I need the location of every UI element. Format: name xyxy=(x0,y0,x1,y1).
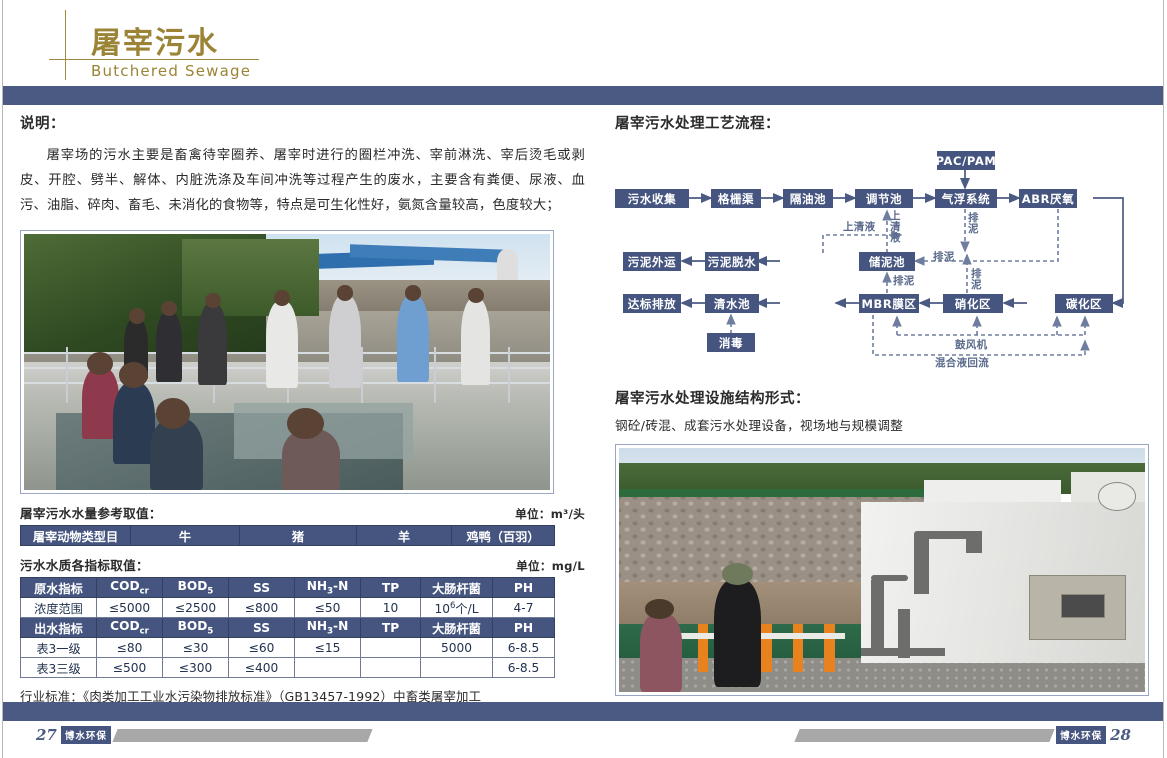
raw-value-cell: ≤50 xyxy=(295,598,361,618)
out-value-cell: 表3三级 xyxy=(21,658,97,678)
raw-value-cell: 浓度范围 xyxy=(21,598,97,618)
raw-value-cell: ≤5000 xyxy=(97,598,163,618)
frame-border-right xyxy=(1163,0,1164,758)
out-value-cell: ≤30 xyxy=(163,638,229,658)
site-photo-treatment-pond-image xyxy=(24,234,550,490)
out-header-cell: SS xyxy=(229,618,295,638)
flow-node-compliant-discharge[interactable]: 达标排放 xyxy=(623,294,681,313)
water-quality-table: 原水指标 CODcr BOD5 SS NH3-N TP 大肠杆菌 PH 浓度范围… xyxy=(20,577,555,678)
table2-unit: 单位：mg/L xyxy=(516,558,585,574)
out-header-cell: TP xyxy=(361,618,421,638)
raw-header-cell: 大肠杆菌 xyxy=(421,578,493,598)
description-heading: 说明： xyxy=(20,112,585,133)
raw-header-cell: BOD5 xyxy=(163,578,229,598)
header-blue-bar xyxy=(3,86,1163,105)
table1-header-cell: 鸡鸭（百羽） xyxy=(452,526,555,546)
footer-left: 27 博水环保 xyxy=(36,726,370,744)
out-value-cell: ≤60 xyxy=(229,638,295,658)
page-header: 屠宰污水 Butchered Sewage xyxy=(3,0,1163,86)
raw-header-cell: CODcr xyxy=(97,578,163,598)
raw-header-cell: 原水指标 xyxy=(21,578,97,598)
brand-badge-left: 博水环保 xyxy=(61,726,111,744)
out-header-cell: NH3-N xyxy=(295,618,361,638)
table1-caption-row: 屠宰污水水量参考取值： 单位：m³/头 xyxy=(20,503,585,522)
flow-node-grille-channel[interactable]: 格栅渠 xyxy=(711,189,761,208)
out-value-cell xyxy=(421,658,493,678)
table-row: 浓度范围 ≤5000 ≤2500 ≤800 ≤50 10 106个/L 4-7 xyxy=(21,598,555,618)
flow-label-blower: 鼓风机 xyxy=(955,337,987,352)
raw-value-cell: 10 xyxy=(361,598,421,618)
page-root: 屠宰污水 Butchered Sewage 说明： 屠宰场的污水主要是畜禽待宰圈… xyxy=(0,0,1167,758)
raw-header-cell: NH3-N xyxy=(295,578,361,598)
out-value-cell: ≤80 xyxy=(97,638,163,658)
description-body: 屠宰场的污水主要是畜禽待宰圈养、屠宰时进行的圈栏冲洗、宰前淋洗、宰后烫毛或剥皮、… xyxy=(20,143,585,218)
raw-value-cell: 4-7 xyxy=(493,598,555,618)
table-row: 表3三级 ≤500 ≤300 ≤400 6-8.5 xyxy=(21,658,555,678)
flow-node-air-flotation-system[interactable]: 气浮系统 xyxy=(935,189,997,208)
flow-node-mbr-membrane-zone[interactable]: MBR膜区 xyxy=(859,294,919,313)
site-photo-equipment-image xyxy=(619,448,1145,692)
flow-node-regulating-tank[interactable]: 调节池 xyxy=(855,189,913,208)
raw-value-cell: 106个/L xyxy=(421,598,493,618)
out-value-cell xyxy=(361,658,421,678)
table1-caption: 屠宰污水水量参考取值： xyxy=(20,503,162,522)
out-value-cell: ≤15 xyxy=(295,638,361,658)
out-value-cell: 5000 xyxy=(421,638,493,658)
page-subtitle: Butchered Sewage xyxy=(91,62,251,80)
table-row: 屠宰动物类型目 牛 猪 羊 鸡鸭（百羽） xyxy=(21,526,555,546)
page-title: 屠宰污水 xyxy=(91,18,219,62)
out-value-cell: 6-8.5 xyxy=(493,638,555,658)
flow-node-clean-water-tank[interactable]: 清水池 xyxy=(705,294,759,313)
flow-node-sludge-dewatering[interactable]: 污泥脱水 xyxy=(705,252,759,271)
flow-heading: 屠宰污水处理工艺流程： xyxy=(615,112,1163,133)
out-value-cell xyxy=(361,638,421,658)
table1-unit: 单位：m³/头 xyxy=(515,506,585,522)
raw-value-cell: ≤2500 xyxy=(163,598,229,618)
page-number-left: 27 xyxy=(36,726,57,744)
table1-header-cell: 猪 xyxy=(240,526,357,546)
right-column: 屠宰污水处理工艺流程： xyxy=(615,112,1163,696)
flow-node-sludge-transport[interactable]: 污泥外运 xyxy=(623,252,681,271)
out-value-cell: ≤400 xyxy=(229,658,295,678)
table1-header-cell: 牛 xyxy=(131,526,240,546)
flow-node-disinfection[interactable]: 消毒 xyxy=(707,333,755,352)
footer-bar-right xyxy=(794,729,1054,742)
raw-header-cell: PH xyxy=(493,578,555,598)
flow-label-supernatant-2: 上清液 xyxy=(890,211,899,244)
table-row: 出水指标 CODcr BOD5 SS NH3-N TP 大肠杆菌 PH xyxy=(21,618,555,638)
page-number-right: 28 xyxy=(1110,726,1131,744)
site-photo-treatment-pond xyxy=(20,230,554,494)
out-value-cell: ≤500 xyxy=(97,658,163,678)
facility-heading: 屠宰污水处理设施结构形式： xyxy=(615,387,1163,408)
raw-header-cell: TP xyxy=(361,578,421,598)
header-vertical-rule-icon xyxy=(65,10,66,80)
flow-node-oil-separation-tank[interactable]: 隔油池 xyxy=(783,189,833,208)
flow-node-abr-anaerobic[interactable]: ABR厌氧 xyxy=(1019,189,1077,208)
brand-badge-right: 博水环保 xyxy=(1056,726,1106,744)
flow-node-sewage-collection[interactable]: 污水收集 xyxy=(615,189,689,208)
water-quantity-table: 屠宰动物类型目 牛 猪 羊 鸡鸭（百羽） xyxy=(20,525,555,546)
facility-note: 钢砼/砖混、成套污水处理设备，视场地与规模调整 xyxy=(615,415,1163,434)
left-column: 说明： 屠宰场的污水主要是畜禽待宰圈养、屠宰时进行的圈栏冲洗、宰前淋洗、宰后烫毛… xyxy=(20,112,585,705)
flow-label-supernatant-1: 上清液 xyxy=(843,219,875,234)
flow-label-sludge-discharge-4: 排泥 xyxy=(893,273,915,288)
flow-node-sludge-storage-tank[interactable]: 储泥池 xyxy=(859,252,915,271)
table1-header-cell: 羊 xyxy=(357,526,452,546)
flow-node-pac-pam[interactable]: PAC/PAM xyxy=(937,151,995,170)
out-value-cell: ≤300 xyxy=(163,658,229,678)
out-value-cell: 表3一级 xyxy=(21,638,97,658)
flow-label-sludge-discharge-3: 排泥 xyxy=(971,269,980,291)
frame-border-left xyxy=(2,0,3,758)
out-header-cell: CODcr xyxy=(97,618,163,638)
process-flow-diagram: 污水收集 格栅渠 隔油池 调节池 气浮系统 ABR厌氧 PAC/PAM 污泥外运… xyxy=(615,145,1163,373)
table1-header-cell: 屠宰动物类型目 xyxy=(21,526,131,546)
out-value-cell xyxy=(295,658,361,678)
flow-node-nitrification-zone[interactable]: 硝化区 xyxy=(943,294,1003,313)
out-header-cell: PH xyxy=(493,618,555,638)
table-row: 原水指标 CODcr BOD5 SS NH3-N TP 大肠杆菌 PH xyxy=(21,578,555,598)
out-value-cell: 6-8.5 xyxy=(493,658,555,678)
site-photo-equipment xyxy=(615,444,1149,696)
raw-header-cell: SS xyxy=(229,578,295,598)
table-row: 表3一级 ≤80 ≤30 ≤60 ≤15 5000 6-8.5 xyxy=(21,638,555,658)
out-header-cell: 大肠杆菌 xyxy=(421,618,493,638)
table2-caption-row: 污水水质各指标取值： 单位：mg/L xyxy=(20,555,585,574)
footer-bar-left xyxy=(112,729,372,742)
industry-standard-note: 行业标准：《肉类加工工业水污染物排放标准》（GB13457-1992）中畜类屠宰… xyxy=(20,687,585,705)
flow-label-mixed-liquor-return: 混合液回流 xyxy=(935,355,989,370)
out-header-cell: BOD5 xyxy=(163,618,229,638)
flow-node-carbonization-zone[interactable]: 碳化区 xyxy=(1055,294,1113,313)
flow-label-sludge-discharge-1: 排泥 xyxy=(968,213,977,235)
flow-label-sludge-discharge-2: 排泥 xyxy=(933,249,955,264)
out-header-cell: 出水指标 xyxy=(21,618,97,638)
raw-value-cell: ≤800 xyxy=(229,598,295,618)
footer-right: 博水环保 28 xyxy=(797,726,1131,744)
table2-caption: 污水水质各指标取值： xyxy=(20,555,149,574)
